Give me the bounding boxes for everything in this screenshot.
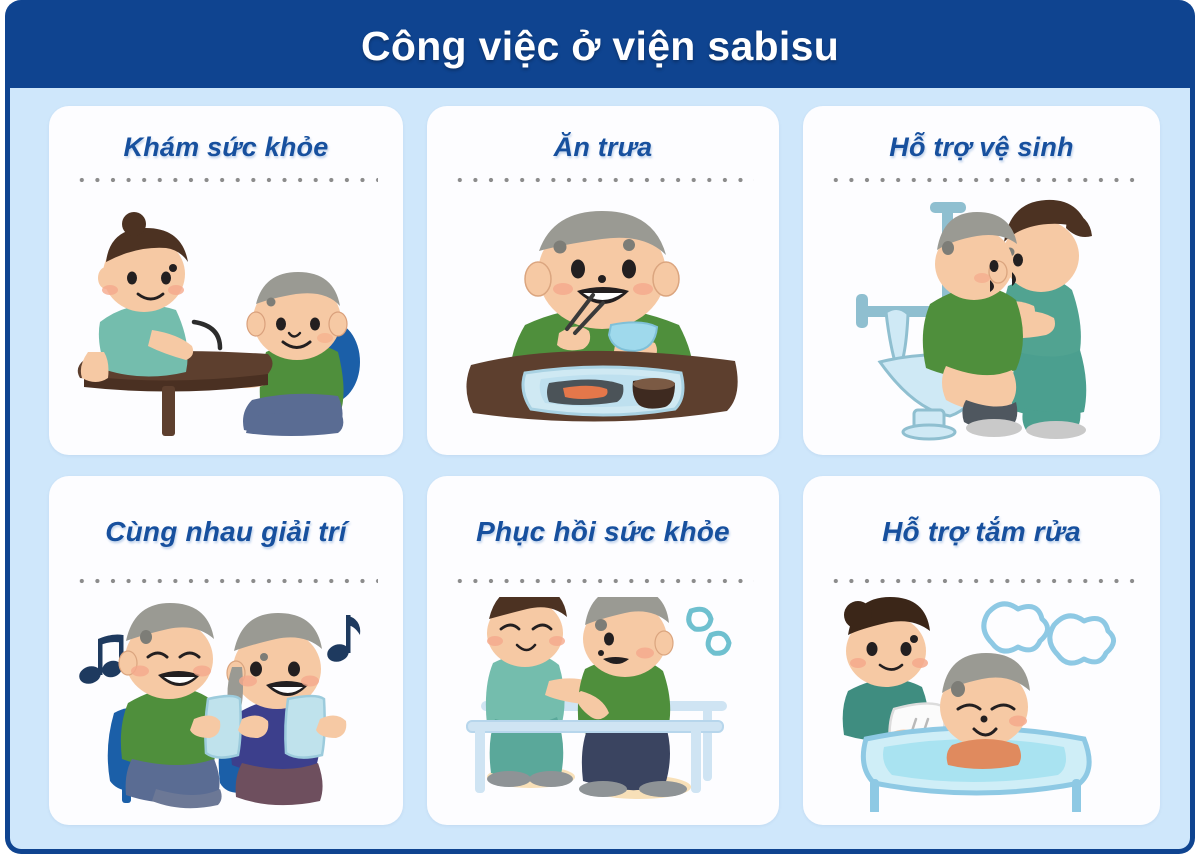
steam-cloud-icon bbox=[983, 604, 1047, 651]
card-title: Cùng nhau giải trí bbox=[105, 516, 347, 548]
steam-cloud-icon bbox=[1049, 616, 1113, 663]
body-panel: Khám sức khỏe bbox=[5, 88, 1195, 854]
sweat-drop-icon bbox=[689, 609, 729, 653]
illustration-toilet-assistance bbox=[803, 183, 1160, 455]
card-toilet-assistance[interactable]: Hỗ trợ vệ sinh bbox=[803, 106, 1160, 455]
header-banner: Công việc ở viện sabisu bbox=[5, 0, 1195, 92]
card-bathing-assistance[interactable]: Hỗ trợ tắm rửa bbox=[803, 476, 1160, 825]
card-title: Ăn trưa bbox=[554, 132, 653, 163]
illustration-recreation bbox=[49, 584, 403, 825]
card-rehabilitation[interactable]: Phục hồi sức khỏe bbox=[427, 476, 779, 825]
card-title: Hỗ trợ tắm rửa bbox=[882, 516, 1081, 548]
card-title: Hỗ trợ vệ sinh bbox=[889, 132, 1073, 163]
card-health-checkup[interactable]: Khám sức khỏe bbox=[49, 106, 403, 455]
illustration-lunch bbox=[427, 183, 779, 455]
blood-pressure-check-icon bbox=[76, 202, 376, 437]
page-title: Công việc ở viện sabisu bbox=[361, 23, 839, 70]
music-note-icon bbox=[325, 615, 360, 664]
illustration-bathing-assistance bbox=[803, 584, 1160, 825]
singing-together-icon bbox=[66, 597, 386, 812]
card-lunch[interactable]: Ăn trưa bbox=[427, 106, 779, 455]
toilet-transfer-icon bbox=[842, 194, 1122, 444]
illustration-health-checkup bbox=[49, 183, 403, 455]
card-recreation[interactable]: Cùng nhau giải trí bbox=[49, 476, 403, 825]
bath-assistance-icon bbox=[832, 597, 1132, 812]
poster: Công việc ở viện sabisu Khám sức khỏe bbox=[0, 0, 1200, 859]
eating-lunch-icon bbox=[463, 207, 743, 432]
card-title: Phục hồi sức khỏe bbox=[476, 516, 730, 548]
cards-grid: Khám sức khỏe bbox=[49, 106, 1161, 822]
music-note-icon bbox=[77, 635, 124, 687]
parallel-bars-walking-icon bbox=[453, 597, 753, 812]
illustration-rehabilitation bbox=[427, 584, 779, 825]
card-title: Khám sức khỏe bbox=[124, 132, 329, 163]
